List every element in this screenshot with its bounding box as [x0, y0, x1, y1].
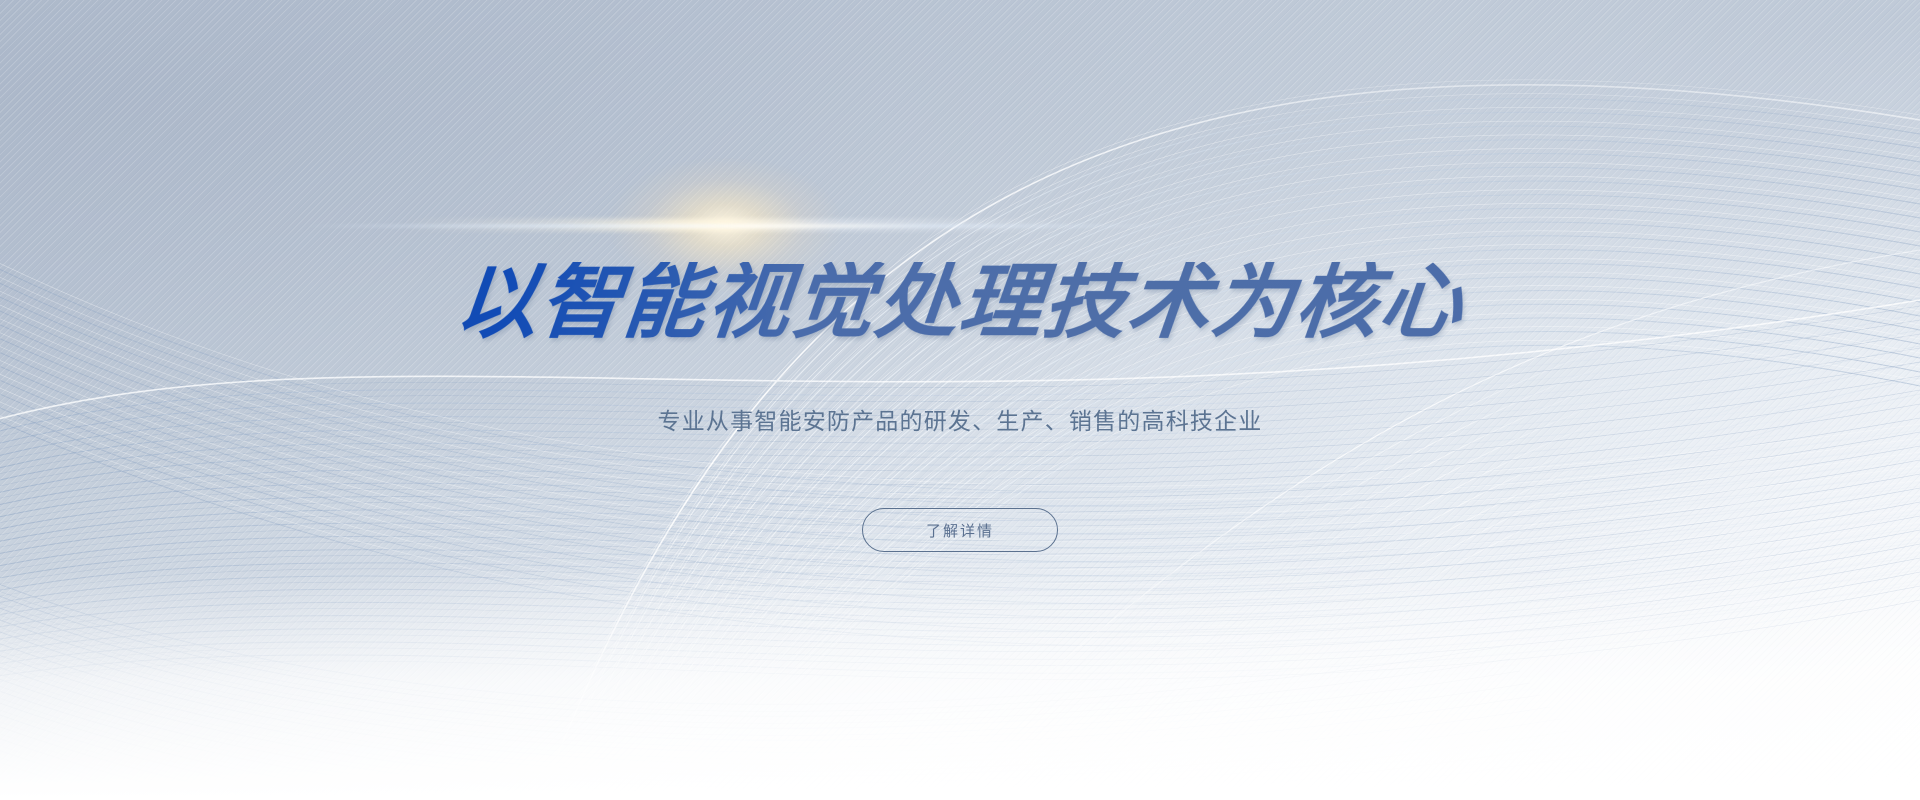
hero-banner: 以智能视觉处理技术为核心 专业从事智能安防产品的研发、生产、销售的高科技企业 了… — [0, 0, 1920, 800]
hero-content: 以智能视觉处理技术为核心 专业从事智能安防产品的研发、生产、销售的高科技企业 了… — [0, 0, 1920, 800]
hero-cta-container: 了解详情 — [0, 508, 1920, 552]
hero-subtitle: 专业从事智能安防产品的研发、生产、销售的高科技企业 — [0, 404, 1920, 439]
learn-more-button[interactable]: 了解详情 — [862, 508, 1058, 552]
hero-headline: 以智能视觉处理技术为核心 — [0, 262, 1920, 344]
